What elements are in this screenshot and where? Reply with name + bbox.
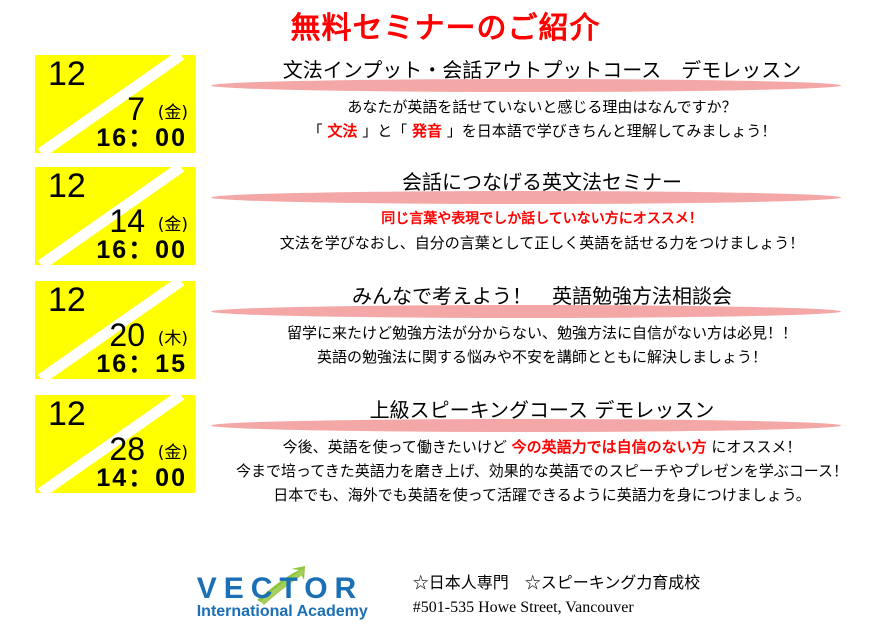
- seminar-headline: 会話につなげる英文法セミナー: [203, 167, 881, 197]
- seminar-row: 12 20 (木) 16：15 みんなで考えよう！ 英語勉強方法相談会 留学に来…: [0, 281, 891, 379]
- date-card: 12 20 (木) 16：15: [35, 281, 195, 379]
- date-day: 20: [109, 319, 145, 351]
- date-day: 14: [109, 205, 145, 237]
- date-weekday: (金): [158, 445, 188, 462]
- seminar-desc-line: 留学に来たけど勉強方法が分からない、勉強方法に自信がない方は必見！！: [203, 321, 881, 345]
- logo-tagline: International Academy: [197, 604, 368, 620]
- seminar-desc-line: 文法を学びなおし、自分の言葉として正しく英語を話せる力をつけましょう！: [203, 231, 881, 255]
- date-day: 7: [127, 93, 145, 125]
- date-month: 12: [48, 397, 86, 431]
- date-month: 12: [48, 57, 86, 91]
- date-card: 12 28 (金) 14：00: [35, 395, 195, 493]
- desc-emphasis: 発音: [412, 122, 442, 140]
- seminar-row: 12 7 (金) 16：00 文法インプット・会話アウトプットコース デモレッス…: [0, 55, 891, 153]
- date-time: 16：15: [96, 352, 187, 377]
- desc-post: にオススメ！: [707, 438, 802, 456]
- headline-wrap: 会話につなげる英文法セミナー: [203, 167, 881, 205]
- street-address: #501-535 Howe Street, Vancouver: [413, 595, 701, 620]
- headline-wrap: 文法インプット・会話アウトプットコース デモレッスン: [203, 55, 881, 93]
- seminar-row: 12 14 (金) 16：00 会話につなげる英文法セミナー 同じ言葉や表現でし…: [0, 167, 891, 265]
- address-block: ☆日本人専門 ☆スピーキング力育成校 #501-535 Howe Street,…: [413, 570, 701, 620]
- headline-wrap: みんなで考えよう！ 英語勉強方法相談会: [203, 281, 881, 319]
- logo-wordmark: VECTOR: [197, 574, 363, 604]
- date-weekday: (金): [158, 217, 188, 234]
- desc-pre: 今後、英語を使って働きたいけど: [283, 438, 512, 456]
- seminar-desc-line: 同じ言葉や表現でしか話していない方にオススメ！: [203, 207, 881, 231]
- seminar-desc-line: あなたが英語を話せていないと感じる理由はなんですか？: [203, 95, 881, 119]
- seminar-headline: 上級スピーキングコース デモレッスン: [203, 395, 881, 425]
- page-title: 無料セミナーのご紹介: [0, 0, 891, 45]
- desc-post: 」を日本語で学びきちんと理解してみましょう！: [442, 122, 776, 140]
- date-time: 16：00: [96, 238, 187, 263]
- seminar-desc-line: 日本でも、海外でも英語を使って活躍できるように英語力を身につけましょう。: [203, 483, 881, 507]
- date-card: 12 7 (金) 16：00: [35, 55, 195, 153]
- seminar-desc-line: 英語の勉強法に関する悩みや不安を講師とともに解決しましょう！: [203, 345, 881, 369]
- seminar-headline: みんなで考えよう！ 英語勉強方法相談会: [203, 281, 881, 311]
- date-day: 28: [109, 433, 145, 465]
- seminar-headline: 文法インプット・会話アウトプットコース デモレッスン: [203, 55, 881, 85]
- date-time: 14：00: [96, 466, 187, 491]
- seminar-desc-line: 今まで培ってきた英語力を磨き上げ、効果的な英語でのスピーチやプレゼンを学ぶコース…: [203, 459, 881, 483]
- date-weekday: (木): [158, 331, 188, 348]
- date-card: 12 14 (金) 16：00: [35, 167, 195, 265]
- desc-mid: 」と「: [357, 122, 412, 140]
- date-time: 16：00: [96, 126, 187, 151]
- tagline-ja: ☆日本人専門 ☆スピーキング力育成校: [413, 570, 701, 595]
- seminar-body: 上級スピーキングコース デモレッスン 今後、英語を使って働きたいけど 今の英語力…: [195, 395, 891, 507]
- desc-pre: 「: [308, 122, 328, 140]
- seminar-body: 会話につなげる英文法セミナー 同じ言葉や表現でしか話していない方にオススメ！ 文…: [195, 167, 891, 255]
- date-month: 12: [48, 169, 86, 203]
- seminar-desc-line: 「 文法 」と「 発音 」を日本語で学びきちんと理解してみましょう！: [203, 119, 881, 143]
- desc-emphasis: 今の英語力では自信のない方: [512, 438, 707, 456]
- logo: VECTOR International Academy: [191, 566, 391, 624]
- seminar-row: 12 28 (金) 14：00 上級スピーキングコース デモレッスン 今後、英語…: [0, 395, 891, 507]
- footer: VECTOR International Academy ☆日本人専門 ☆スピー…: [0, 566, 891, 624]
- headline-wrap: 上級スピーキングコース デモレッスン: [203, 395, 881, 433]
- seminar-body: みんなで考えよう！ 英語勉強方法相談会 留学に来たけど勉強方法が分からない、勉強…: [195, 281, 891, 369]
- date-weekday: (金): [158, 105, 188, 122]
- seminar-body: 文法インプット・会話アウトプットコース デモレッスン あなたが英語を話せていない…: [195, 55, 891, 143]
- desc-emphasis: 文法: [327, 122, 357, 140]
- date-month: 12: [48, 283, 86, 317]
- seminar-desc-line: 今後、英語を使って働きたいけど 今の英語力では自信のない方 にオススメ！: [203, 435, 881, 459]
